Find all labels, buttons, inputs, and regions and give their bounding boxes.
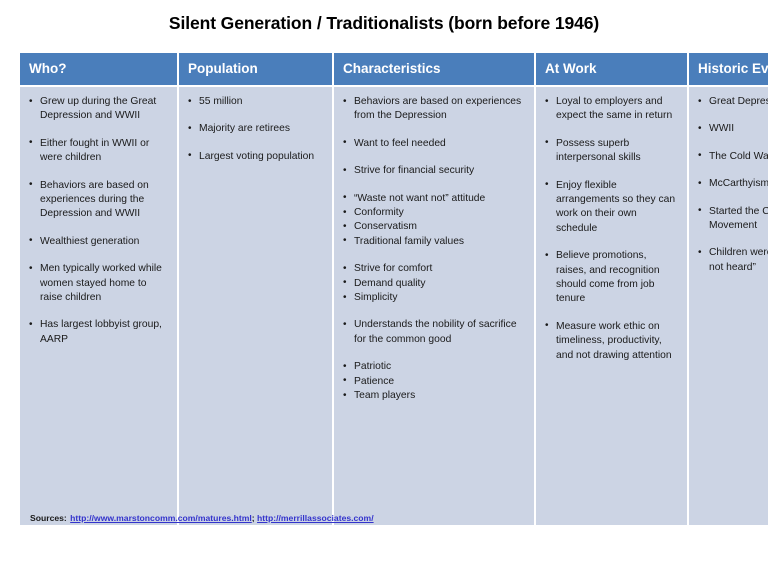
bullet-list-population: 55 millionMajority are retireesLargest v… (185, 95, 324, 164)
bullet-list-characteristics: Behaviors are based on experiences from … (340, 95, 526, 404)
source-link-2[interactable]: http://merrillassociates.com/ (257, 513, 374, 523)
bullet-item: Conformity (340, 206, 526, 220)
bullet-item: Has largest lobbyist group, AARP (26, 318, 169, 347)
bullet-item: Understands the nobility of sacrifice fo… (340, 318, 526, 347)
table-row: Grew up during the Great Depression and … (20, 85, 768, 525)
column-header-characteristics: Characteristics (334, 53, 534, 85)
bullet-item: Enjoy flexible arrangements so they can … (542, 179, 679, 237)
cell-at-work: Loyal to employers and expect the same i… (536, 85, 687, 525)
bullet-item: Believe promotions, raises, and recognit… (542, 249, 679, 307)
bullet-item: Simplicity (340, 291, 526, 305)
generation-table: Who? Population Characteristics At Work … (18, 53, 768, 525)
generation-table-container: Who? Population Characteristics At Work … (18, 53, 750, 525)
bullet-item: Largest voting population (185, 150, 324, 164)
bullet-item: “Waste not want not” attitude (340, 192, 526, 206)
cell-characteristics: Behaviors are based on experiences from … (334, 85, 534, 525)
cell-population: 55 millionMajority are retireesLargest v… (179, 85, 332, 525)
bullet-item: Wealthiest generation (26, 235, 169, 249)
cell-who: Grew up during the Great Depression and … (20, 85, 177, 525)
bullet-item: Behaviors are based on experiences from … (340, 95, 526, 124)
bullet-item: Traditional family values (340, 235, 526, 249)
bullet-item: Want to feel needed (340, 137, 526, 151)
bullet-item: Grew up during the Great Depression and … (26, 95, 169, 124)
bullet-item: Behaviors are based on experiences durin… (26, 179, 169, 222)
slide: Silent Generation / Traditionalists (bor… (0, 0, 768, 576)
bullet-item: WWII (695, 122, 768, 136)
bullet-item: Team players (340, 389, 526, 403)
cell-historic-events: Great DepressionWWIIThe Cold WarMcCarthy… (689, 85, 768, 525)
column-header-at-work: At Work (536, 53, 687, 85)
bullet-item: Possess superb interpersonal skills (542, 137, 679, 166)
sources-separator: ; (252, 513, 255, 523)
bullet-item: Patience (340, 375, 526, 389)
table-header-row: Who? Population Characteristics At Work … (20, 53, 768, 85)
bullet-item: Patriotic (340, 360, 526, 374)
bullet-item: Children were “seen, but not heard” (695, 246, 768, 275)
bullet-item: Strive for financial security (340, 164, 526, 178)
source-link-1[interactable]: http://www.marstoncomm.com/matures.html (70, 513, 252, 523)
bullet-item: Demand quality (340, 277, 526, 291)
bullet-item: 55 million (185, 95, 324, 109)
bullet-item: Majority are retirees (185, 122, 324, 136)
bullet-list-who: Grew up during the Great Depression and … (26, 95, 169, 347)
column-header-historic-events: Historic Events (689, 53, 768, 85)
bullet-item: The Cold War (695, 150, 768, 164)
table-body: Grew up during the Great Depression and … (20, 85, 768, 525)
bullet-item: Men typically worked while women stayed … (26, 262, 169, 305)
page-title: Silent Generation / Traditionalists (bor… (0, 13, 768, 34)
bullet-item: Loyal to employers and expect the same i… (542, 95, 679, 124)
bullet-item: Measure work ethic on timeliness, produc… (542, 320, 679, 363)
bullet-item: Conservatism (340, 220, 526, 234)
bullet-list-historic-events: Great DepressionWWIIThe Cold WarMcCarthy… (695, 95, 768, 275)
bullet-list-at-work: Loyal to employers and expect the same i… (542, 95, 679, 363)
bullet-item: Either fought in WWII or were children (26, 137, 169, 166)
column-header-who: Who? (20, 53, 177, 85)
bullet-item: Started the Civil Rights Movement (695, 205, 768, 234)
bullet-item: Strive for comfort (340, 262, 526, 276)
sources-footer: Sources: http://www.marstoncomm.com/matu… (30, 513, 374, 523)
bullet-item: Great Depression (695, 95, 768, 109)
table-header-row-group: Who? Population Characteristics At Work … (20, 53, 768, 85)
bullet-item: McCarthyism (695, 177, 768, 191)
sources-label: Sources: (30, 513, 67, 523)
column-header-population: Population (179, 53, 332, 85)
